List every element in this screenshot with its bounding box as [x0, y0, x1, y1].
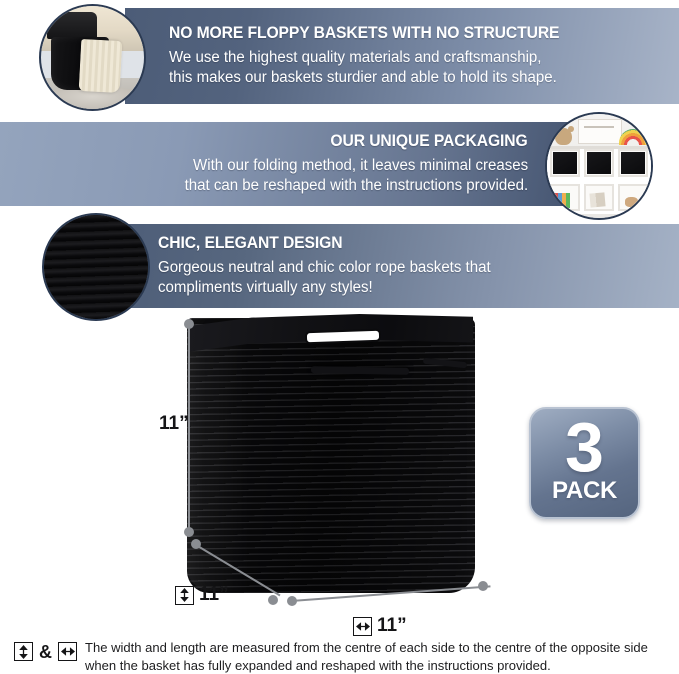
vertical-arrow-icon — [175, 586, 194, 605]
width-dimension-badge: 11” — [353, 615, 407, 637]
thumb2-cube-cell — [550, 149, 580, 176]
footnote-line-1: The width and length are measured from t… — [85, 639, 648, 657]
thumbnail-image — [547, 114, 651, 218]
thumb1-furniture — [47, 12, 96, 39]
depth-dimension-label: 11” — [199, 584, 229, 606]
height-dimension-endpoint — [184, 319, 194, 329]
depth-dimension-endpoint — [191, 539, 201, 549]
feature-banner-unique-packaging: OUR UNIQUE PACKAGING With our folding me… — [0, 122, 600, 206]
footnote-ampersand: & — [39, 643, 52, 661]
measurement-footnote: & The width and length are measured from… — [14, 639, 669, 674]
depth-dimension-endpoint — [268, 595, 278, 605]
banner-body: Gorgeous neutral and chic color rope bas… — [158, 258, 491, 298]
pack-count-badge: 3 PACK — [529, 407, 640, 519]
banner-body-line-1: Gorgeous neutral and chic color rope bas… — [158, 258, 491, 278]
height-dimension-label: 11” — [159, 413, 189, 435]
thumb2-black-basket — [553, 152, 577, 173]
footnote-icon-group: & — [14, 639, 77, 661]
thumbnail-image — [41, 6, 144, 109]
thumb2-shelf-row-bottom — [547, 181, 651, 214]
banner-body-line-1: With our folding method, it leaves minim… — [184, 156, 528, 176]
horizontal-arrow-icon — [353, 617, 372, 636]
pack-count-number: 3 — [565, 419, 604, 476]
thumb2-cube-cell — [584, 184, 614, 211]
banner-title: NO MORE FLOPPY BASKETS WITH NO STRUCTURE — [169, 24, 559, 42]
thumb1-cream-towel — [79, 39, 123, 93]
pack-count-word: PACK — [552, 479, 617, 503]
thumb2-toy — [625, 197, 639, 207]
thumb3-rope-weave-texture — [44, 215, 148, 319]
thumbnail-basket-with-towel — [39, 4, 146, 111]
banner-body: With our folding method, it leaves minim… — [184, 156, 528, 196]
banner-title: CHIC, ELEGANT DESIGN — [158, 234, 342, 252]
thumb2-books — [554, 193, 570, 208]
banner-body-line-2: that can be reshaped with the instructio… — [184, 176, 528, 196]
banner-title: OUR UNIQUE PACKAGING — [331, 132, 528, 150]
vertical-arrow-icon — [14, 642, 33, 661]
thumbnail-image — [44, 215, 148, 319]
thumb2-wall-art-line — [584, 126, 613, 128]
thumb2-black-basket — [621, 152, 645, 173]
feature-banner-chic-elegant-design: CHIC, ELEGANT DESIGN Gorgeous neutral an… — [100, 224, 679, 308]
feature-banner-no-floppy-baskets: NO MORE FLOPPY BASKETS WITH NO STRUCTURE… — [125, 8, 679, 104]
banner-body: We use the highest quality materials and… — [169, 48, 557, 88]
thumb2-cube-cell — [550, 184, 580, 211]
height-dimension-endpoint — [184, 527, 194, 537]
banner-body-line-2: compliments virtually any styles! — [158, 278, 491, 298]
banner-body-line-1: We use the highest quality materials and… — [169, 48, 557, 68]
thumbnail-cube-shelf-baskets — [545, 112, 653, 220]
banner-body-line-2: this makes our baskets sturdier and able… — [169, 68, 557, 88]
thumb2-black-basket — [587, 152, 611, 173]
depth-dimension-badge: 11” — [175, 584, 229, 606]
thumb2-cube-cell — [584, 149, 614, 176]
thumb2-shelf-row-top — [547, 146, 651, 179]
horizontal-arrow-icon — [58, 642, 77, 661]
width-dimension-endpoint — [287, 596, 297, 606]
thumb2-cube-cell — [618, 149, 648, 176]
width-dimension-label: 11” — [377, 615, 407, 637]
product-basket-image — [187, 318, 475, 593]
width-dimension-endpoint — [478, 581, 488, 591]
footnote-text: The width and length are measured from t… — [85, 639, 648, 674]
thumb2-books — [589, 193, 605, 208]
thumb2-teddy-bear — [555, 128, 572, 146]
thumb2-cube-cell — [618, 184, 648, 211]
footnote-line-2: when the basket has fully expanded and r… — [85, 657, 648, 674]
thumb2-wall-art — [578, 119, 622, 144]
